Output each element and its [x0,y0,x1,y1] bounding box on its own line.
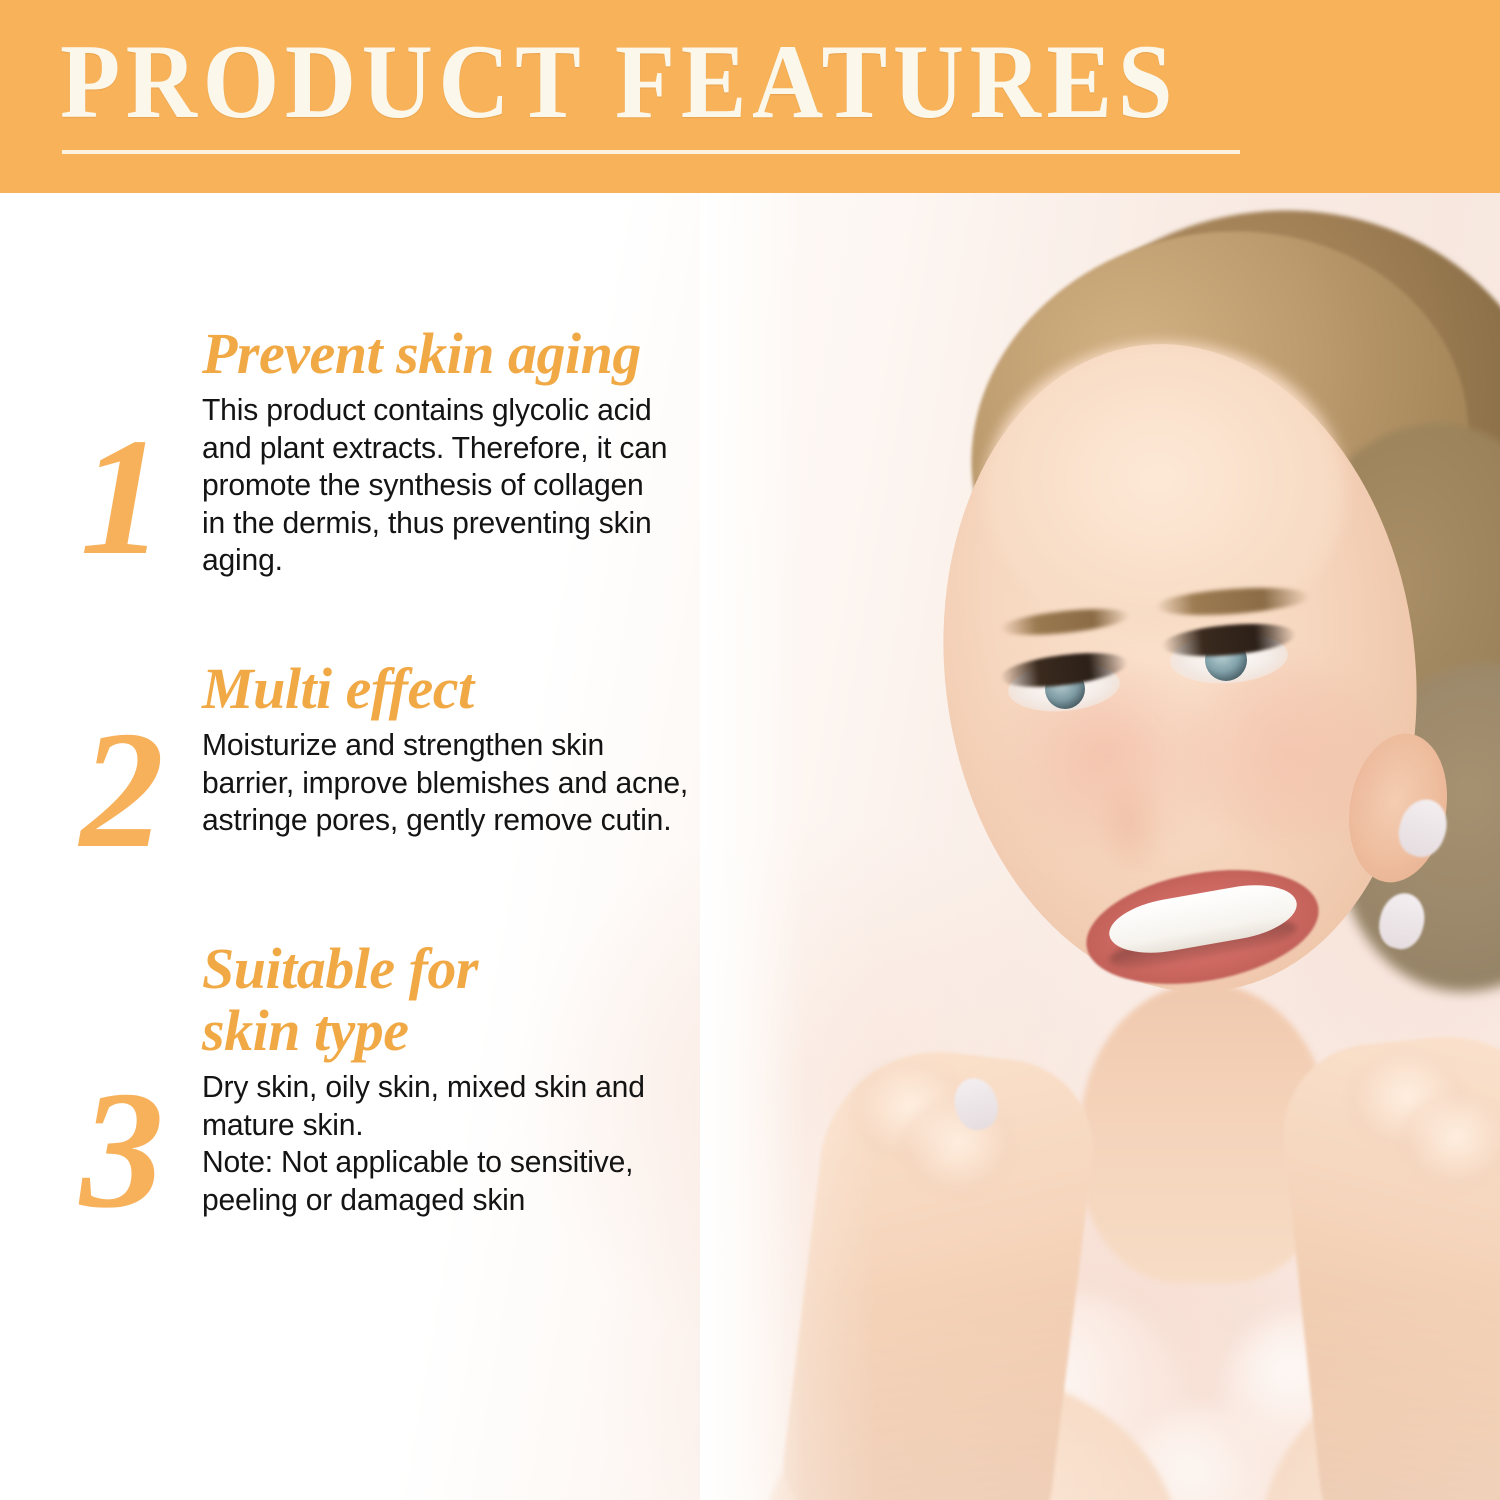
feature-body: Suitable for skin type Dry skin, oily sk… [202,938,722,1218]
feature-number: 1 [62,413,182,581]
feature-description: Moisturize and strengthen skin barrier, … [202,726,706,839]
feature-number: 3 [62,1066,182,1234]
header-banner: PRODUCT FEATURES [0,0,1500,193]
page-title: PRODUCT FEATURES [60,26,1162,138]
cheek-blush [1185,663,1385,843]
feature-number: 2 [62,706,182,874]
feature-list: 1 Prevent skin aging This product contai… [0,193,760,1500]
feature-body: Prevent skin aging This product contains… [202,323,722,579]
product-features-page: PRODUCT FEATURES 1 Prevent skin aging Th… [0,0,1500,1500]
feature-heading: Prevent skin aging [202,323,722,385]
feature-heading: Suitable for skin type [202,938,722,1062]
feature-description: Dry skin, oily skin, mixed skin and matu… [202,1068,706,1218]
model-photo [700,193,1500,1500]
feature-description: This product contains glycolic acid and … [202,391,706,579]
title-underline [62,150,1240,154]
feature-body: Multi effect Moisturize and strengthen s… [202,658,722,839]
feature-heading: Multi effect [202,658,722,720]
